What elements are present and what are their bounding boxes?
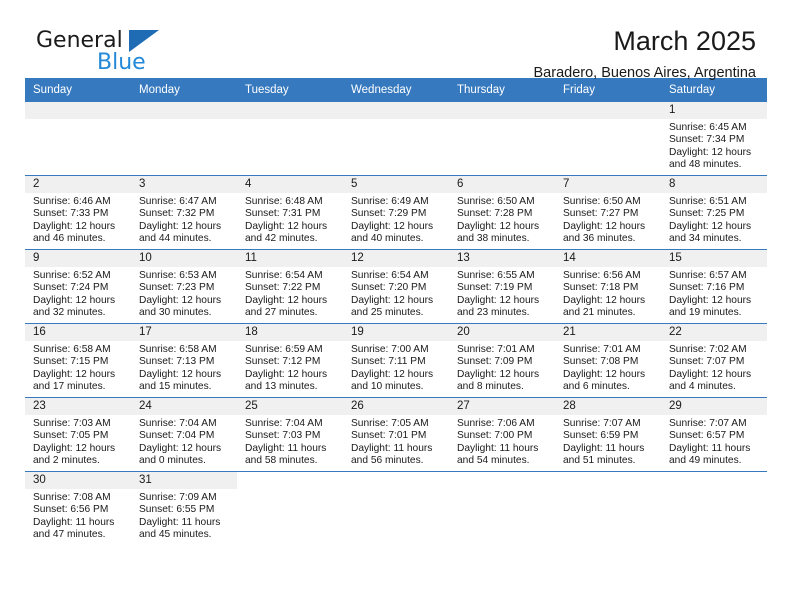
- day-cell-content: [237, 102, 343, 175]
- day-cell-content: [449, 472, 555, 545]
- sunrise-text: Sunrise: 6:53 AM: [139, 270, 231, 282]
- sunset-text: Sunset: 7:25 PM: [669, 208, 761, 220]
- sunrise-text: Sunrise: 6:49 AM: [351, 196, 443, 208]
- daylight-text-line1: Daylight: 11 hours: [139, 517, 231, 529]
- weekday-header-sunday: Sunday: [25, 78, 131, 102]
- daylight-text-line2: and 8 minutes.: [457, 381, 549, 393]
- sunset-text: Sunset: 6:55 PM: [139, 504, 231, 516]
- day-number: 4: [237, 176, 343, 193]
- sunset-text: Sunset: 7:24 PM: [33, 282, 125, 294]
- calendar-day-cell[interactable]: 17Sunrise: 6:58 AMSunset: 7:13 PMDayligh…: [131, 324, 237, 398]
- day-number: [343, 102, 449, 119]
- sunset-text: Sunset: 7:09 PM: [457, 356, 549, 368]
- sunrise-text: Sunrise: 7:01 AM: [457, 344, 549, 356]
- day-cell-content: 13Sunrise: 6:55 AMSunset: 7:19 PMDayligh…: [449, 250, 555, 323]
- calendar-day-cell[interactable]: 8Sunrise: 6:51 AMSunset: 7:25 PMDaylight…: [661, 176, 767, 250]
- daylight-text-line1: Daylight: 12 hours: [351, 295, 443, 307]
- sunset-text: Sunset: 7:27 PM: [563, 208, 655, 220]
- sunset-text: Sunset: 7:22 PM: [245, 282, 337, 294]
- day-sun-info: Sunrise: 6:48 AMSunset: 7:31 PMDaylight:…: [237, 193, 343, 246]
- calendar-day-cell[interactable]: 6Sunrise: 6:50 AMSunset: 7:28 PMDaylight…: [449, 176, 555, 250]
- daylight-text-line1: Daylight: 12 hours: [33, 369, 125, 381]
- day-sun-info: Sunrise: 6:45 AMSunset: 7:34 PMDaylight:…: [661, 119, 767, 172]
- calendar-day-cell[interactable]: [449, 472, 555, 546]
- day-number: 27: [449, 398, 555, 415]
- day-cell-content: 15Sunrise: 6:57 AMSunset: 7:16 PMDayligh…: [661, 250, 767, 323]
- sunset-text: Sunset: 7:07 PM: [669, 356, 761, 368]
- day-cell-content: 27Sunrise: 7:06 AMSunset: 7:00 PMDayligh…: [449, 398, 555, 471]
- calendar-day-cell[interactable]: 12Sunrise: 6:54 AMSunset: 7:20 PMDayligh…: [343, 250, 449, 324]
- daylight-text-line1: Daylight: 12 hours: [33, 295, 125, 307]
- daylight-text-line2: and 56 minutes.: [351, 455, 443, 467]
- sunrise-text: Sunrise: 7:04 AM: [139, 418, 231, 430]
- daylight-text-line1: Daylight: 12 hours: [139, 369, 231, 381]
- calendar-day-cell[interactable]: [555, 102, 661, 176]
- day-cell-content: [555, 472, 661, 545]
- sunset-text: Sunset: 7:29 PM: [351, 208, 443, 220]
- daylight-text-line2: and 49 minutes.: [669, 455, 761, 467]
- daylight-text-line1: Daylight: 12 hours: [457, 369, 549, 381]
- day-cell-content: 21Sunrise: 7:01 AMSunset: 7:08 PMDayligh…: [555, 324, 661, 397]
- daylight-text-line1: Daylight: 12 hours: [33, 443, 125, 455]
- sunrise-text: Sunrise: 7:08 AM: [33, 492, 125, 504]
- header-titles: March 2025 Baradero, Buenos Aires, Argen…: [166, 26, 756, 84]
- day-cell-content: 28Sunrise: 7:07 AMSunset: 6:59 PMDayligh…: [555, 398, 661, 471]
- calendar-week-row: 30Sunrise: 7:08 AMSunset: 6:56 PMDayligh…: [25, 472, 767, 546]
- day-sun-info: Sunrise: 7:04 AMSunset: 7:04 PMDaylight:…: [131, 415, 237, 468]
- day-cell-content: 7Sunrise: 6:50 AMSunset: 7:27 PMDaylight…: [555, 176, 661, 249]
- day-cell-content: [343, 472, 449, 545]
- calendar-day-cell[interactable]: 1Sunrise: 6:45 AMSunset: 7:34 PMDaylight…: [661, 102, 767, 176]
- day-cell-content: 8Sunrise: 6:51 AMSunset: 7:25 PMDaylight…: [661, 176, 767, 249]
- sunset-text: Sunset: 7:16 PM: [669, 282, 761, 294]
- daylight-text-line1: Daylight: 12 hours: [457, 295, 549, 307]
- sunset-text: Sunset: 7:01 PM: [351, 430, 443, 442]
- day-cell-content: [343, 102, 449, 175]
- daylight-text-line2: and 6 minutes.: [563, 381, 655, 393]
- day-cell-content: 25Sunrise: 7:04 AMSunset: 7:03 PMDayligh…: [237, 398, 343, 471]
- sunset-text: Sunset: 7:28 PM: [457, 208, 549, 220]
- day-number: 12: [343, 250, 449, 267]
- calendar-day-cell[interactable]: 23Sunrise: 7:03 AMSunset: 7:05 PMDayligh…: [25, 398, 131, 472]
- sunset-text: Sunset: 7:31 PM: [245, 208, 337, 220]
- day-cell-content: 3Sunrise: 6:47 AMSunset: 7:32 PMDaylight…: [131, 176, 237, 249]
- day-number: 30: [25, 472, 131, 489]
- daylight-text-line1: Daylight: 12 hours: [669, 221, 761, 233]
- sunset-text: Sunset: 7:08 PM: [563, 356, 655, 368]
- day-number: 10: [131, 250, 237, 267]
- daylight-text-line2: and 48 minutes.: [669, 159, 761, 171]
- calendar-day-cell[interactable]: 31Sunrise: 7:09 AMSunset: 6:55 PMDayligh…: [131, 472, 237, 546]
- daylight-text-line2: and 27 minutes.: [245, 307, 337, 319]
- day-cell-content: 6Sunrise: 6:50 AMSunset: 7:28 PMDaylight…: [449, 176, 555, 249]
- general-blue-logo[interactable]: General Blue: [36, 26, 166, 78]
- sunrise-text: Sunrise: 6:46 AM: [33, 196, 125, 208]
- sunset-text: Sunset: 6:59 PM: [563, 430, 655, 442]
- day-number: 7: [555, 176, 661, 193]
- daylight-text-line1: Daylight: 12 hours: [139, 221, 231, 233]
- calendar-day-cell[interactable]: [237, 102, 343, 176]
- day-cell-content: [131, 102, 237, 175]
- day-number: [449, 102, 555, 119]
- day-sun-info: Sunrise: 7:07 AMSunset: 6:59 PMDaylight:…: [555, 415, 661, 468]
- day-number: 21: [555, 324, 661, 341]
- day-number: 1: [661, 102, 767, 119]
- sunset-text: Sunset: 7:05 PM: [33, 430, 125, 442]
- day-sun-info: Sunrise: 6:54 AMSunset: 7:20 PMDaylight:…: [343, 267, 449, 320]
- daylight-text-line1: Daylight: 12 hours: [245, 221, 337, 233]
- day-cell-content: 5Sunrise: 6:49 AMSunset: 7:29 PMDaylight…: [343, 176, 449, 249]
- day-cell-content: 2Sunrise: 6:46 AMSunset: 7:33 PMDaylight…: [25, 176, 131, 249]
- day-cell-content: 10Sunrise: 6:53 AMSunset: 7:23 PMDayligh…: [131, 250, 237, 323]
- sunrise-text: Sunrise: 6:59 AM: [245, 344, 337, 356]
- sunrise-text: Sunrise: 7:01 AM: [563, 344, 655, 356]
- day-sun-info: Sunrise: 6:50 AMSunset: 7:28 PMDaylight:…: [449, 193, 555, 246]
- calendar-grid-wrapper: Sunday Monday Tuesday Wednesday Thursday…: [0, 78, 792, 545]
- calendar-day-cell[interactable]: 25Sunrise: 7:04 AMSunset: 7:03 PMDayligh…: [237, 398, 343, 472]
- sunrise-text: Sunrise: 6:54 AM: [245, 270, 337, 282]
- daylight-text-line1: Daylight: 12 hours: [245, 369, 337, 381]
- sunset-text: Sunset: 6:56 PM: [33, 504, 125, 516]
- daylight-text-line1: Daylight: 11 hours: [563, 443, 655, 455]
- day-cell-content: [661, 472, 767, 545]
- sunset-text: Sunset: 7:15 PM: [33, 356, 125, 368]
- calendar-day-cell[interactable]: 10Sunrise: 6:53 AMSunset: 7:23 PMDayligh…: [131, 250, 237, 324]
- day-sun-info: Sunrise: 6:55 AMSunset: 7:19 PMDaylight:…: [449, 267, 555, 320]
- day-cell-content: [25, 102, 131, 175]
- daylight-text-line2: and 10 minutes.: [351, 381, 443, 393]
- daylight-text-line2: and 19 minutes.: [669, 307, 761, 319]
- day-number: 13: [449, 250, 555, 267]
- calendar-day-cell[interactable]: [343, 102, 449, 176]
- calendar-week-row: 16Sunrise: 6:58 AMSunset: 7:15 PMDayligh…: [25, 324, 767, 398]
- page-subtitle: Baradero, Buenos Aires, Argentina: [166, 62, 756, 84]
- calendar-week-row: 1Sunrise: 6:45 AMSunset: 7:34 PMDaylight…: [25, 102, 767, 176]
- sunrise-text: Sunrise: 6:50 AM: [457, 196, 549, 208]
- daylight-text-line1: Daylight: 12 hours: [669, 369, 761, 381]
- sunrise-text: Sunrise: 7:02 AM: [669, 344, 761, 356]
- day-cell-content: 17Sunrise: 6:58 AMSunset: 7:13 PMDayligh…: [131, 324, 237, 397]
- daylight-text-line1: Daylight: 12 hours: [139, 443, 231, 455]
- daylight-text-line2: and 25 minutes.: [351, 307, 443, 319]
- day-number: 11: [237, 250, 343, 267]
- calendar-day-cell[interactable]: 29Sunrise: 7:07 AMSunset: 6:57 PMDayligh…: [661, 398, 767, 472]
- sunrise-text: Sunrise: 6:50 AM: [563, 196, 655, 208]
- calendar-day-cell[interactable]: 7Sunrise: 6:50 AMSunset: 7:27 PMDaylight…: [555, 176, 661, 250]
- day-number: 9: [25, 250, 131, 267]
- sunrise-text: Sunrise: 6:58 AM: [139, 344, 231, 356]
- sunset-text: Sunset: 7:23 PM: [139, 282, 231, 294]
- calendar-day-cell[interactable]: 20Sunrise: 7:01 AMSunset: 7:09 PMDayligh…: [449, 324, 555, 398]
- calendar-day-cell[interactable]: 26Sunrise: 7:05 AMSunset: 7:01 PMDayligh…: [343, 398, 449, 472]
- sunrise-text: Sunrise: 6:55 AM: [457, 270, 549, 282]
- day-sun-info: Sunrise: 6:53 AMSunset: 7:23 PMDaylight:…: [131, 267, 237, 320]
- page-title: March 2025: [166, 26, 756, 56]
- daylight-text-line1: Daylight: 12 hours: [563, 221, 655, 233]
- day-number: 29: [661, 398, 767, 415]
- sunrise-text: Sunrise: 7:09 AM: [139, 492, 231, 504]
- day-cell-content: 19Sunrise: 7:00 AMSunset: 7:11 PMDayligh…: [343, 324, 449, 397]
- day-sun-info: Sunrise: 6:58 AMSunset: 7:15 PMDaylight:…: [25, 341, 131, 394]
- day-cell-content: 31Sunrise: 7:09 AMSunset: 6:55 PMDayligh…: [131, 472, 237, 545]
- daylight-text-line1: Daylight: 12 hours: [563, 369, 655, 381]
- calendar-day-cell[interactable]: 16Sunrise: 6:58 AMSunset: 7:15 PMDayligh…: [25, 324, 131, 398]
- day-sun-info: Sunrise: 6:56 AMSunset: 7:18 PMDaylight:…: [555, 267, 661, 320]
- day-number: 26: [343, 398, 449, 415]
- daylight-text-line1: Daylight: 11 hours: [669, 443, 761, 455]
- day-number: 20: [449, 324, 555, 341]
- sunset-text: Sunset: 7:20 PM: [351, 282, 443, 294]
- day-number: 2: [25, 176, 131, 193]
- day-cell-content: 22Sunrise: 7:02 AMSunset: 7:07 PMDayligh…: [661, 324, 767, 397]
- day-number: 24: [131, 398, 237, 415]
- sunrise-text: Sunrise: 6:54 AM: [351, 270, 443, 282]
- daylight-text-line2: and 0 minutes.: [139, 455, 231, 467]
- day-sun-info: Sunrise: 6:58 AMSunset: 7:13 PMDaylight:…: [131, 341, 237, 394]
- calendar-day-cell[interactable]: [25, 102, 131, 176]
- day-sun-info: Sunrise: 6:47 AMSunset: 7:32 PMDaylight:…: [131, 193, 237, 246]
- sunrise-text: Sunrise: 6:45 AM: [669, 122, 761, 134]
- daylight-text-line2: and 4 minutes.: [669, 381, 761, 393]
- daylight-text-line2: and 30 minutes.: [139, 307, 231, 319]
- day-number: [555, 102, 661, 119]
- day-cell-content: 1Sunrise: 6:45 AMSunset: 7:34 PMDaylight…: [661, 102, 767, 175]
- calendar-day-cell[interactable]: 15Sunrise: 6:57 AMSunset: 7:16 PMDayligh…: [661, 250, 767, 324]
- calendar-table: Sunday Monday Tuesday Wednesday Thursday…: [25, 78, 767, 545]
- sunrise-text: Sunrise: 6:58 AM: [33, 344, 125, 356]
- day-sun-info: Sunrise: 7:06 AMSunset: 7:00 PMDaylight:…: [449, 415, 555, 468]
- day-cell-content: 12Sunrise: 6:54 AMSunset: 7:20 PMDayligh…: [343, 250, 449, 323]
- day-number: [25, 102, 131, 119]
- day-cell-content: 18Sunrise: 6:59 AMSunset: 7:12 PMDayligh…: [237, 324, 343, 397]
- daylight-text-line1: Daylight: 12 hours: [669, 295, 761, 307]
- sunrise-text: Sunrise: 6:52 AM: [33, 270, 125, 282]
- page-header: General Blue March 2025 Baradero, Buenos…: [0, 0, 792, 78]
- day-cell-content: [449, 102, 555, 175]
- daylight-text-line2: and 15 minutes.: [139, 381, 231, 393]
- calendar-week-row: 2Sunrise: 6:46 AMSunset: 7:33 PMDaylight…: [25, 176, 767, 250]
- day-cell-content: 20Sunrise: 7:01 AMSunset: 7:09 PMDayligh…: [449, 324, 555, 397]
- daylight-text-line2: and 38 minutes.: [457, 233, 549, 245]
- calendar-week-row: 9Sunrise: 6:52 AMSunset: 7:24 PMDaylight…: [25, 250, 767, 324]
- day-number: 18: [237, 324, 343, 341]
- calendar-week-row: 23Sunrise: 7:03 AMSunset: 7:05 PMDayligh…: [25, 398, 767, 472]
- day-number: 8: [661, 176, 767, 193]
- sunrise-text: Sunrise: 7:05 AM: [351, 418, 443, 430]
- calendar-day-cell[interactable]: [555, 472, 661, 546]
- calendar-day-cell[interactable]: 30Sunrise: 7:08 AMSunset: 6:56 PMDayligh…: [25, 472, 131, 546]
- day-sun-info: Sunrise: 6:51 AMSunset: 7:25 PMDaylight:…: [661, 193, 767, 246]
- sunrise-text: Sunrise: 6:51 AM: [669, 196, 761, 208]
- daylight-text-line2: and 32 minutes.: [33, 307, 125, 319]
- day-sun-info: Sunrise: 6:49 AMSunset: 7:29 PMDaylight:…: [343, 193, 449, 246]
- daylight-text-line2: and 21 minutes.: [563, 307, 655, 319]
- sunset-text: Sunset: 6:57 PM: [669, 430, 761, 442]
- sunrise-text: Sunrise: 7:04 AM: [245, 418, 337, 430]
- day-sun-info: Sunrise: 7:05 AMSunset: 7:01 PMDaylight:…: [343, 415, 449, 468]
- calendar-day-cell[interactable]: 9Sunrise: 6:52 AMSunset: 7:24 PMDaylight…: [25, 250, 131, 324]
- sunset-text: Sunset: 7:04 PM: [139, 430, 231, 442]
- daylight-text-line2: and 36 minutes.: [563, 233, 655, 245]
- day-cell-content: 9Sunrise: 6:52 AMSunset: 7:24 PMDaylight…: [25, 250, 131, 323]
- day-sun-info: Sunrise: 7:01 AMSunset: 7:08 PMDaylight:…: [555, 341, 661, 394]
- day-sun-info: Sunrise: 6:52 AMSunset: 7:24 PMDaylight:…: [25, 267, 131, 320]
- day-cell-content: 16Sunrise: 6:58 AMSunset: 7:15 PMDayligh…: [25, 324, 131, 397]
- day-cell-content: 4Sunrise: 6:48 AMSunset: 7:31 PMDaylight…: [237, 176, 343, 249]
- day-sun-info: Sunrise: 6:54 AMSunset: 7:22 PMDaylight:…: [237, 267, 343, 320]
- daylight-text-line1: Daylight: 12 hours: [563, 295, 655, 307]
- calendar-day-cell[interactable]: [343, 472, 449, 546]
- sunrise-text: Sunrise: 6:56 AM: [563, 270, 655, 282]
- day-number: 22: [661, 324, 767, 341]
- sunset-text: Sunset: 7:19 PM: [457, 282, 549, 294]
- day-sun-info: Sunrise: 6:59 AMSunset: 7:12 PMDaylight:…: [237, 341, 343, 394]
- calendar-day-cell[interactable]: 22Sunrise: 7:02 AMSunset: 7:07 PMDayligh…: [661, 324, 767, 398]
- day-cell-content: 24Sunrise: 7:04 AMSunset: 7:04 PMDayligh…: [131, 398, 237, 471]
- sunrise-text: Sunrise: 7:03 AM: [33, 418, 125, 430]
- sunrise-text: Sunrise: 6:47 AM: [139, 196, 231, 208]
- daylight-text-line1: Daylight: 11 hours: [33, 517, 125, 529]
- day-number: 28: [555, 398, 661, 415]
- day-cell-content: 14Sunrise: 6:56 AMSunset: 7:18 PMDayligh…: [555, 250, 661, 323]
- calendar-day-cell[interactable]: 4Sunrise: 6:48 AMSunset: 7:31 PMDaylight…: [237, 176, 343, 250]
- calendar-day-cell[interactable]: 21Sunrise: 7:01 AMSunset: 7:08 PMDayligh…: [555, 324, 661, 398]
- day-sun-info: Sunrise: 7:04 AMSunset: 7:03 PMDaylight:…: [237, 415, 343, 468]
- daylight-text-line1: Daylight: 12 hours: [669, 147, 761, 159]
- logo-triangle-icon: [129, 30, 159, 52]
- sunset-text: Sunset: 7:13 PM: [139, 356, 231, 368]
- day-cell-content: 30Sunrise: 7:08 AMSunset: 6:56 PMDayligh…: [25, 472, 131, 545]
- daylight-text-line1: Daylight: 12 hours: [245, 295, 337, 307]
- daylight-text-line1: Daylight: 11 hours: [457, 443, 549, 455]
- daylight-text-line2: and 45 minutes.: [139, 529, 231, 541]
- daylight-text-line1: Daylight: 12 hours: [33, 221, 125, 233]
- sunset-text: Sunset: 7:03 PM: [245, 430, 337, 442]
- day-number: 14: [555, 250, 661, 267]
- calendar-day-cell[interactable]: [449, 102, 555, 176]
- daylight-text-line1: Daylight: 12 hours: [457, 221, 549, 233]
- sunset-text: Sunset: 7:18 PM: [563, 282, 655, 294]
- day-sun-info: Sunrise: 7:03 AMSunset: 7:05 PMDaylight:…: [25, 415, 131, 468]
- calendar-day-cell[interactable]: 11Sunrise: 6:54 AMSunset: 7:22 PMDayligh…: [237, 250, 343, 324]
- day-cell-content: [555, 102, 661, 175]
- sunrise-text: Sunrise: 7:07 AM: [669, 418, 761, 430]
- sunrise-text: Sunrise: 7:06 AM: [457, 418, 549, 430]
- daylight-text-line2: and 23 minutes.: [457, 307, 549, 319]
- day-sun-info: Sunrise: 6:46 AMSunset: 7:33 PMDaylight:…: [25, 193, 131, 246]
- calendar-page: General Blue March 2025 Baradero, Buenos…: [0, 0, 792, 612]
- calendar-day-cell[interactable]: 24Sunrise: 7:04 AMSunset: 7:04 PMDayligh…: [131, 398, 237, 472]
- daylight-text-line1: Daylight: 12 hours: [351, 369, 443, 381]
- day-number: 6: [449, 176, 555, 193]
- calendar-day-cell[interactable]: 13Sunrise: 6:55 AMSunset: 7:19 PMDayligh…: [449, 250, 555, 324]
- calendar-day-cell[interactable]: 14Sunrise: 6:56 AMSunset: 7:18 PMDayligh…: [555, 250, 661, 324]
- day-cell-content: [237, 472, 343, 545]
- day-number: [131, 102, 237, 119]
- sunset-text: Sunset: 7:32 PM: [139, 208, 231, 220]
- day-cell-content: 29Sunrise: 7:07 AMSunset: 6:57 PMDayligh…: [661, 398, 767, 471]
- sunrise-text: Sunrise: 6:48 AM: [245, 196, 337, 208]
- day-number: 17: [131, 324, 237, 341]
- day-sun-info: Sunrise: 7:01 AMSunset: 7:09 PMDaylight:…: [449, 341, 555, 394]
- sunrise-text: Sunrise: 7:00 AM: [351, 344, 443, 356]
- day-sun-info: Sunrise: 7:07 AMSunset: 6:57 PMDaylight:…: [661, 415, 767, 468]
- day-number: 3: [131, 176, 237, 193]
- daylight-text-line2: and 13 minutes.: [245, 381, 337, 393]
- day-sun-info: Sunrise: 6:50 AMSunset: 7:27 PMDaylight:…: [555, 193, 661, 246]
- day-sun-info: Sunrise: 7:00 AMSunset: 7:11 PMDaylight:…: [343, 341, 449, 394]
- daylight-text-line2: and 46 minutes.: [33, 233, 125, 245]
- daylight-text-line2: and 2 minutes.: [33, 455, 125, 467]
- day-cell-content: 23Sunrise: 7:03 AMSunset: 7:05 PMDayligh…: [25, 398, 131, 471]
- calendar-day-cell[interactable]: 5Sunrise: 6:49 AMSunset: 7:29 PMDaylight…: [343, 176, 449, 250]
- calendar-day-cell[interactable]: 2Sunrise: 6:46 AMSunset: 7:33 PMDaylight…: [25, 176, 131, 250]
- calendar-day-cell[interactable]: [237, 472, 343, 546]
- calendar-day-cell[interactable]: 19Sunrise: 7:00 AMSunset: 7:11 PMDayligh…: [343, 324, 449, 398]
- daylight-text-line2: and 34 minutes.: [669, 233, 761, 245]
- day-sun-info: Sunrise: 7:02 AMSunset: 7:07 PMDaylight:…: [661, 341, 767, 394]
- day-cell-content: 11Sunrise: 6:54 AMSunset: 7:22 PMDayligh…: [237, 250, 343, 323]
- calendar-day-cell[interactable]: 3Sunrise: 6:47 AMSunset: 7:32 PMDaylight…: [131, 176, 237, 250]
- daylight-text-line2: and 40 minutes.: [351, 233, 443, 245]
- sunrise-text: Sunrise: 6:57 AM: [669, 270, 761, 282]
- calendar-day-cell[interactable]: 18Sunrise: 6:59 AMSunset: 7:12 PMDayligh…: [237, 324, 343, 398]
- calendar-day-cell[interactable]: [661, 472, 767, 546]
- day-number: 23: [25, 398, 131, 415]
- day-number: 31: [131, 472, 237, 489]
- daylight-text-line1: Daylight: 12 hours: [351, 221, 443, 233]
- day-cell-content: 26Sunrise: 7:05 AMSunset: 7:01 PMDayligh…: [343, 398, 449, 471]
- sunrise-text: Sunrise: 7:07 AM: [563, 418, 655, 430]
- day-number: 15: [661, 250, 767, 267]
- calendar-day-cell[interactable]: [131, 102, 237, 176]
- daylight-text-line2: and 58 minutes.: [245, 455, 337, 467]
- day-number: [237, 102, 343, 119]
- daylight-text-line2: and 17 minutes.: [33, 381, 125, 393]
- sunset-text: Sunset: 7:34 PM: [669, 134, 761, 146]
- day-sun-info: Sunrise: 7:08 AMSunset: 6:56 PMDaylight:…: [25, 489, 131, 542]
- calendar-body: 1Sunrise: 6:45 AMSunset: 7:34 PMDaylight…: [25, 102, 767, 545]
- daylight-text-line2: and 51 minutes.: [563, 455, 655, 467]
- daylight-text-line1: Daylight: 11 hours: [245, 443, 337, 455]
- sunset-text: Sunset: 7:00 PM: [457, 430, 549, 442]
- daylight-text-line2: and 42 minutes.: [245, 233, 337, 245]
- daylight-text-line1: Daylight: 11 hours: [351, 443, 443, 455]
- calendar-day-cell[interactable]: 27Sunrise: 7:06 AMSunset: 7:00 PMDayligh…: [449, 398, 555, 472]
- day-sun-info: Sunrise: 7:09 AMSunset: 6:55 PMDaylight:…: [131, 489, 237, 542]
- sunset-text: Sunset: 7:33 PM: [33, 208, 125, 220]
- day-number: 5: [343, 176, 449, 193]
- day-number: 25: [237, 398, 343, 415]
- daylight-text-line2: and 47 minutes.: [33, 529, 125, 541]
- sunset-text: Sunset: 7:12 PM: [245, 356, 337, 368]
- sunset-text: Sunset: 7:11 PM: [351, 356, 443, 368]
- daylight-text-line2: and 54 minutes.: [457, 455, 549, 467]
- day-number: 19: [343, 324, 449, 341]
- calendar-day-cell[interactable]: 28Sunrise: 7:07 AMSunset: 6:59 PMDayligh…: [555, 398, 661, 472]
- day-sun-info: Sunrise: 6:57 AMSunset: 7:16 PMDaylight:…: [661, 267, 767, 320]
- daylight-text-line1: Daylight: 12 hours: [139, 295, 231, 307]
- logo-text-blue: Blue: [97, 50, 146, 75]
- day-number: 16: [25, 324, 131, 341]
- daylight-text-line2: and 44 minutes.: [139, 233, 231, 245]
